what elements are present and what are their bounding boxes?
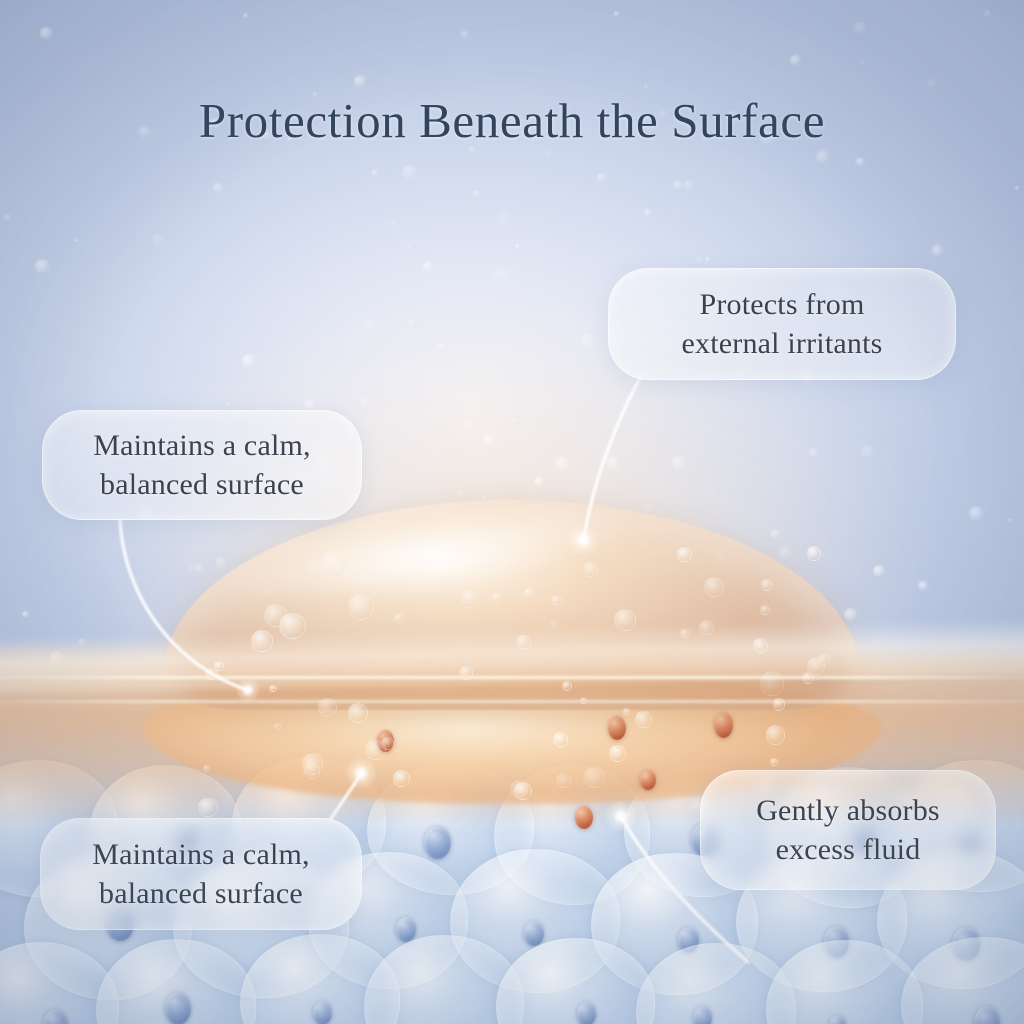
callout-calm-top-line-1: Maintains a calm, (93, 426, 311, 465)
callout-calm-bottom-line-2: balanced surface (92, 874, 310, 913)
callout-protects-from-external-irritants[interactable]: Protects from external irritants (608, 268, 956, 380)
callout-calm-top-line-2: balanced surface (93, 465, 311, 504)
callout-protects-line-1: Protects from (681, 285, 882, 324)
callout-maintains-calm-balanced-surface-top[interactable]: Maintains a calm, balanced surface (42, 410, 362, 520)
callout-gently-absorbs-excess-fluid[interactable]: Gently absorbs excess fluid (700, 770, 996, 890)
callout-protects-line-2: external irritants (681, 324, 882, 363)
callout-maintains-calm-balanced-surface-bottom[interactable]: Maintains a calm, balanced surface (40, 818, 362, 930)
anchor-dot-calm-bottom (344, 756, 378, 790)
callout-absorbs-line-1: Gently absorbs (756, 791, 940, 830)
anchor-dot-calm-top (235, 677, 261, 703)
callout-calm-bottom-line-1: Maintains a calm, (92, 835, 310, 874)
anchor-dot-protects (566, 523, 600, 557)
page-title: Protection Beneath the Surface (0, 92, 1024, 149)
callout-absorbs-line-2: excess fluid (756, 830, 940, 869)
illustration-canvas: Protection Beneath the Surface Protects … (0, 0, 1024, 1024)
anchor-dot-absorbs (604, 799, 638, 833)
